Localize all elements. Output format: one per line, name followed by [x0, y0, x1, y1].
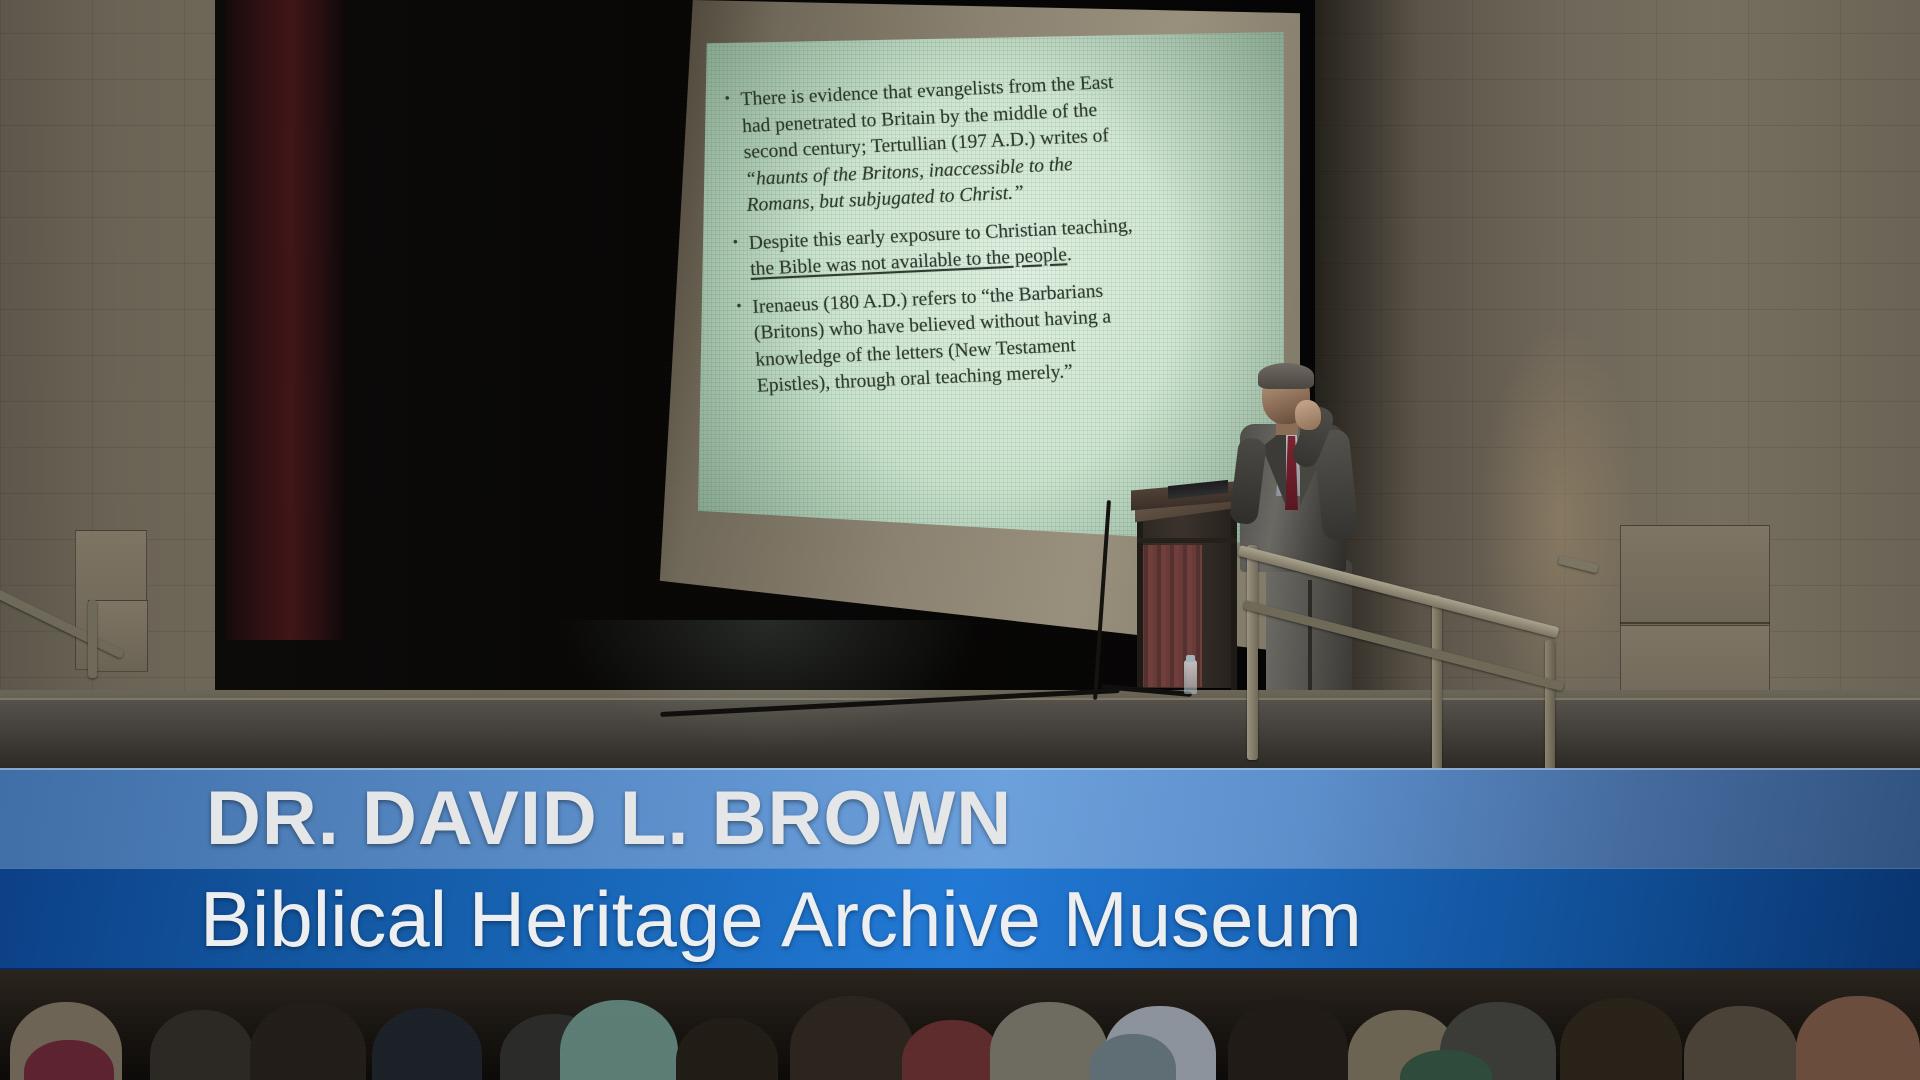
podium-leg-right [1231, 508, 1237, 690]
audience-head [902, 1020, 1002, 1080]
projector-light-spill [560, 620, 980, 750]
audience-head [250, 1002, 366, 1080]
speaker-leg-separation [1308, 580, 1312, 702]
handrail-right-post-2 [1432, 595, 1442, 770]
speaker-hair [1258, 363, 1314, 389]
red-stage-curtain [225, 0, 345, 640]
lower-third-banner: DR. DAVID L. BROWN Biblical Heritage Arc… [0, 768, 1920, 970]
audience-head [560, 1000, 678, 1080]
audience-head [1796, 996, 1920, 1080]
handrail-left-post [88, 600, 97, 678]
handrail-right-post-1 [1247, 545, 1258, 760]
acoustic-panel-divider [1620, 622, 1770, 624]
audience-head [790, 996, 914, 1080]
lower-third-name-bar: DR. DAVID L. BROWN [0, 768, 1920, 868]
acoustic-panel-left-lower [88, 600, 148, 672]
podium-crossbar [1137, 538, 1237, 543]
speaker-affiliation-text: Biblical Heritage Archive Museum [0, 880, 1362, 958]
audience-silhouettes [0, 968, 1920, 1080]
speaker-hand [1295, 400, 1321, 430]
water-bottle-cap [1186, 655, 1195, 662]
stage-right-light-glow [1480, 330, 1640, 710]
water-bottle [1184, 660, 1197, 694]
video-still-root: • There is evidence that evangelists fro… [0, 0, 1920, 1080]
handrail-right-post-3 [1545, 640, 1555, 770]
audience-head [1560, 998, 1682, 1080]
speaker-name-text: DR. DAVID L. BROWN [0, 781, 1012, 857]
lower-third-subtitle-bar: Biblical Heritage Archive Museum [0, 868, 1920, 970]
podium-leg-left [1137, 508, 1143, 690]
audience-head [150, 1010, 254, 1080]
audience-head [1228, 998, 1348, 1080]
audience-head [1684, 1006, 1798, 1080]
audience-head [372, 1008, 482, 1080]
audience-head [676, 1018, 778, 1080]
